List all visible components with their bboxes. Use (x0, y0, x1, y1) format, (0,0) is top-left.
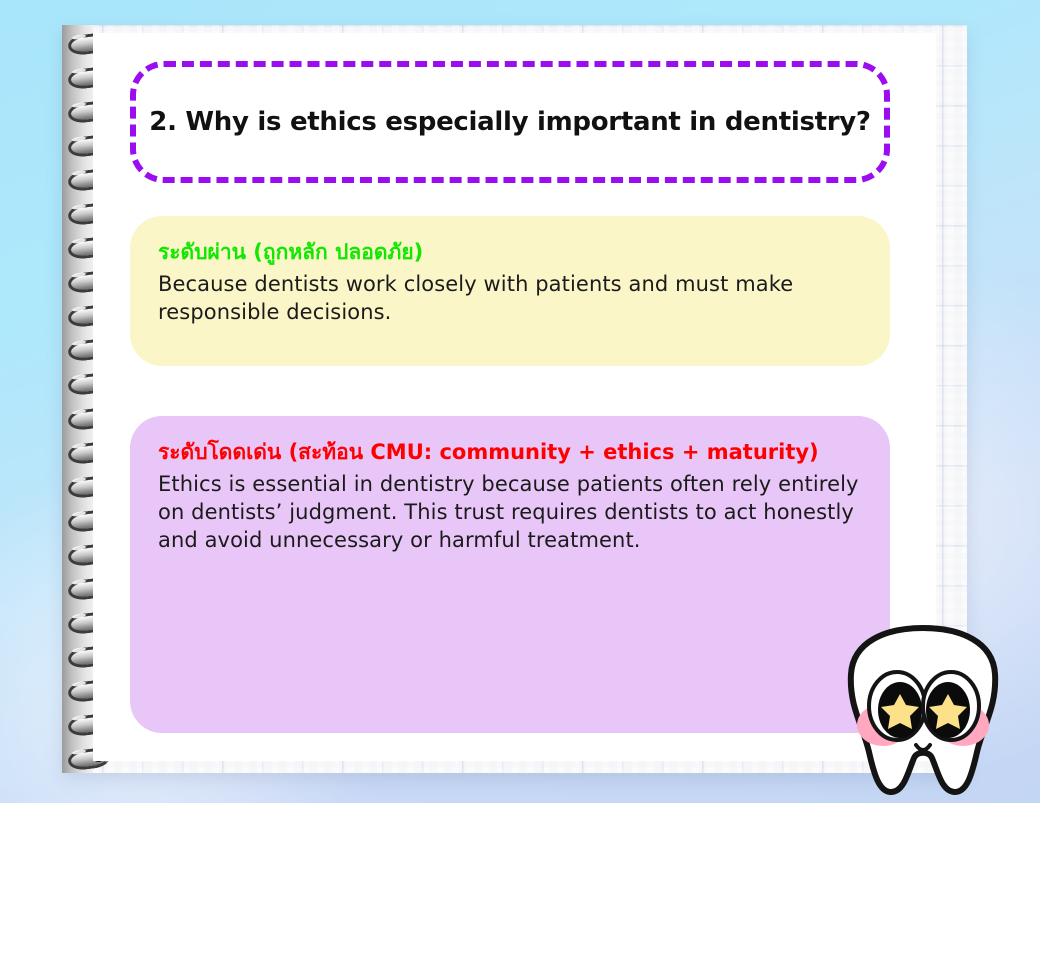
answer-body-pass: Because dentists work closely with patie… (158, 270, 862, 326)
answer-heading-pass: ระดับผ่าน (ถูกหลัก ปลอดภัย) (158, 240, 862, 266)
answer-body-outstanding: Ethics is essential in dentistry because… (158, 470, 862, 554)
answer-box-outstanding: ระดับโดดเด่น (สะท้อน CMU: community + et… (130, 416, 890, 733)
notebook-paper: 2. Why is ethics especially important in… (62, 25, 967, 773)
slide-content-card: 2. Why is ethics especially important in… (93, 33, 936, 761)
question-title-box: 2. Why is ethics especially important in… (130, 61, 890, 183)
answer-box-pass: ระดับผ่าน (ถูกหลัก ปลอดภัย) Because dent… (130, 216, 890, 366)
tooth-mascot (843, 622, 1003, 800)
page-title: 2. Why is ethics especially important in… (149, 107, 870, 137)
answer-heading-outstanding: ระดับโดดเด่น (สะท้อน CMU: community + et… (158, 440, 862, 466)
notebook-binding-strip (62, 25, 93, 773)
